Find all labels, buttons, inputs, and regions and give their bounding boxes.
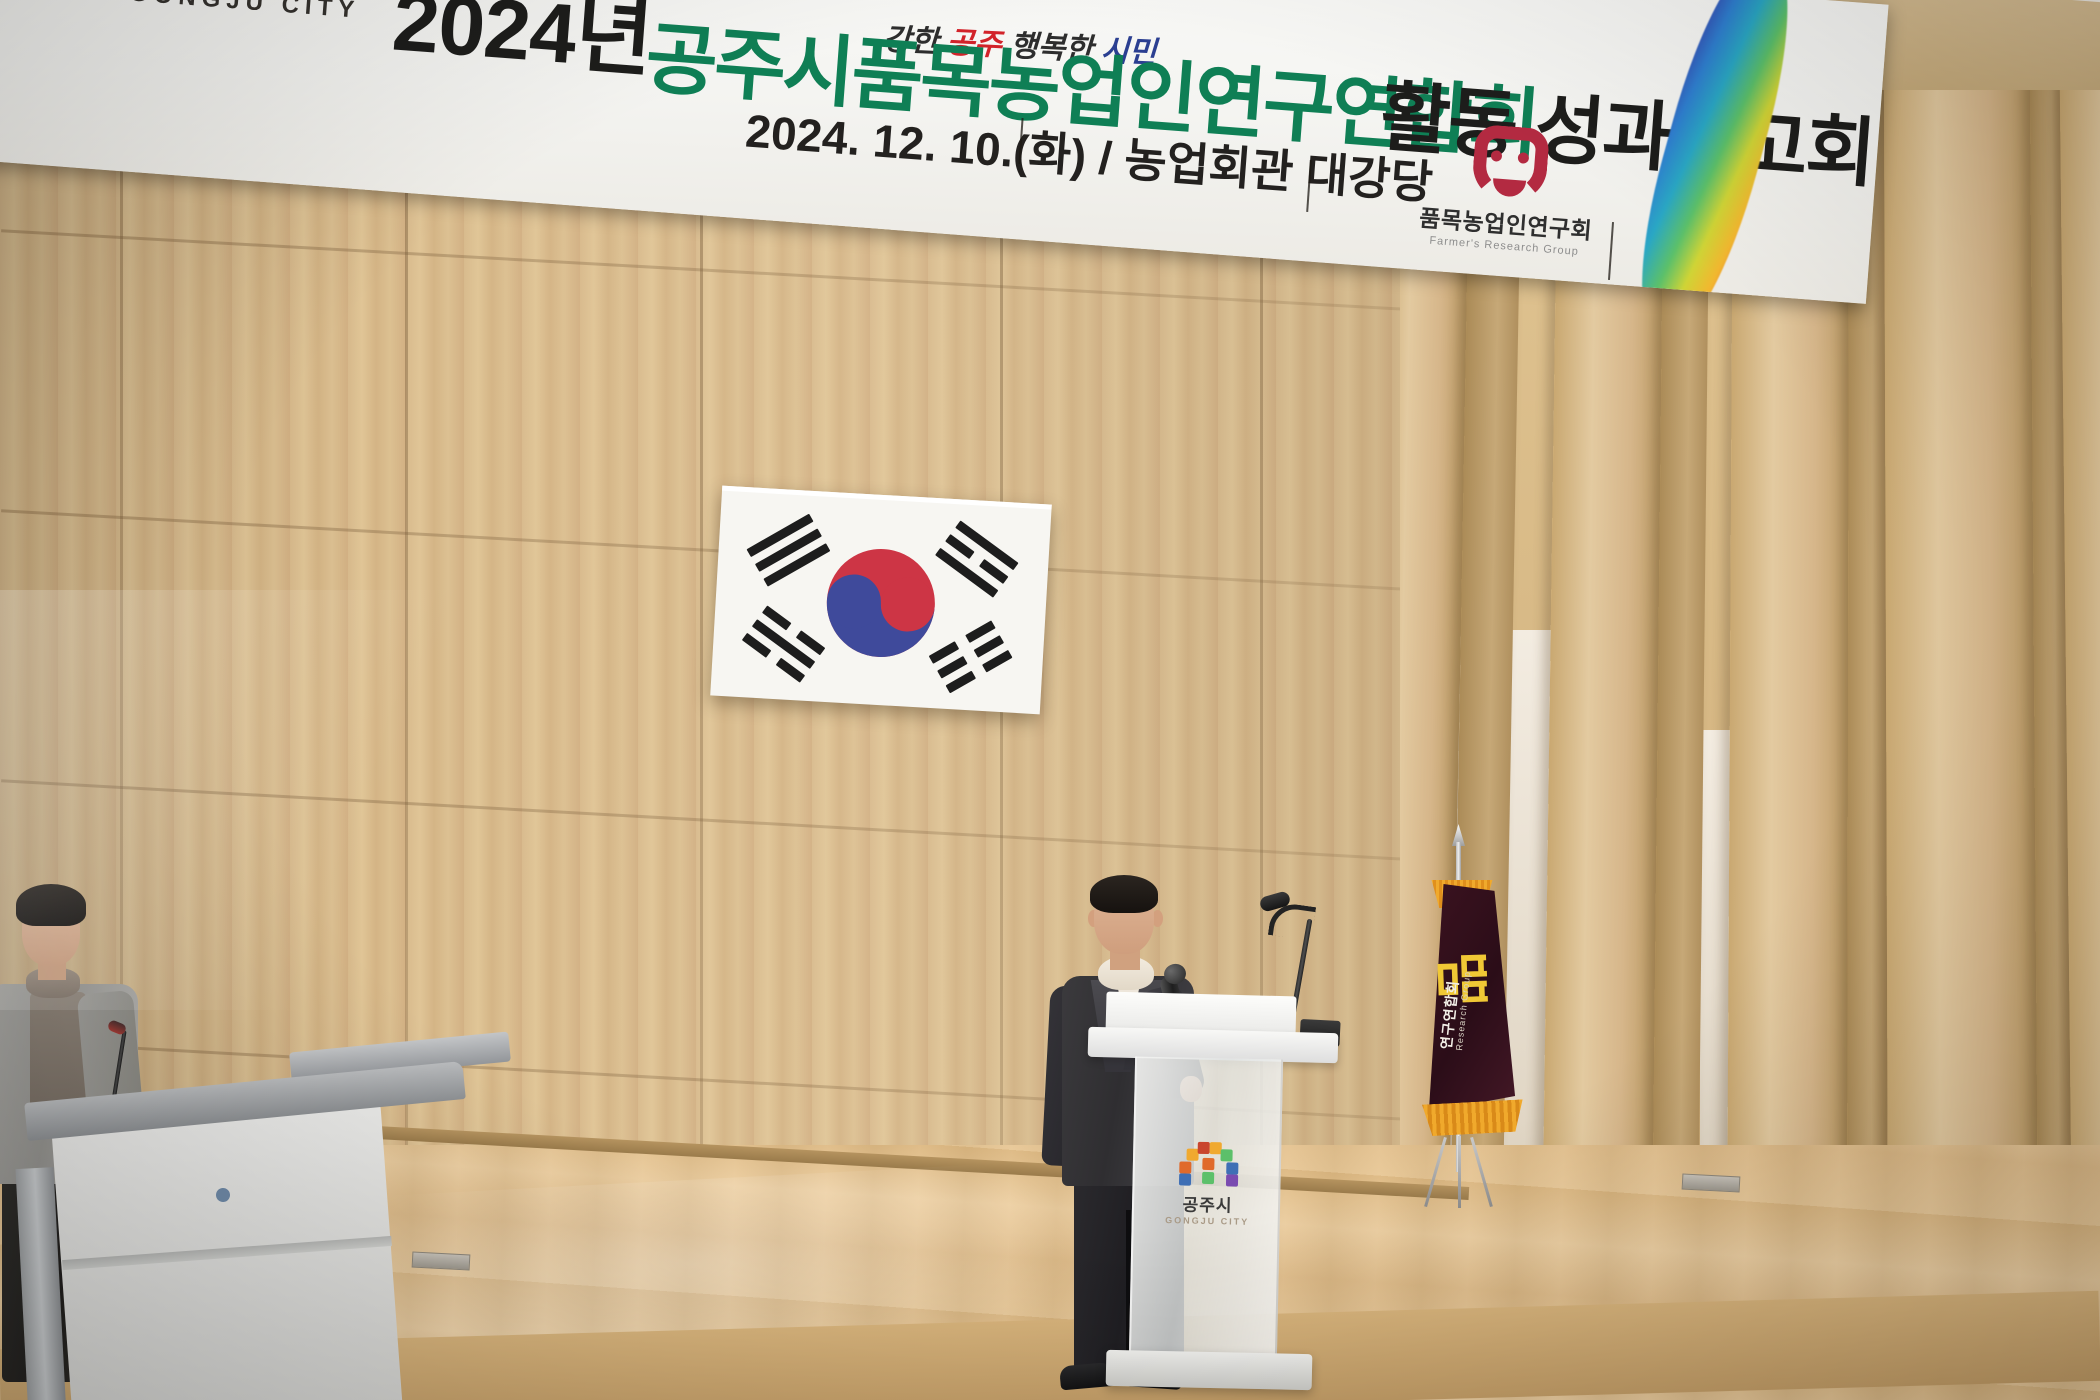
podium-base bbox=[1106, 1350, 1313, 1390]
trigram-geon bbox=[747, 514, 831, 588]
podium-logo-en: GONGJU CITY bbox=[1161, 1215, 1253, 1227]
podium-logo: 공주시 GONGJU CITY bbox=[1161, 1139, 1255, 1227]
korean-national-flag bbox=[710, 486, 1052, 715]
hair bbox=[1090, 875, 1158, 913]
banner-year: 2024년 bbox=[389, 0, 657, 94]
podium-logo-kr: 공주시 bbox=[1161, 1190, 1254, 1217]
trigram-gon bbox=[929, 620, 1013, 694]
trigram-gam bbox=[741, 605, 825, 683]
floor-outlet-plate bbox=[1682, 1173, 1741, 1192]
gongju-arch-icon bbox=[1173, 1139, 1244, 1186]
city-logo-en: GONGJU CITY bbox=[128, 0, 361, 25]
ceremonial-organization-flag: 品 연구연합회 Research Group bbox=[1372, 836, 1552, 1196]
trigram-ri bbox=[934, 520, 1018, 598]
sponsor-logo: 품목농업인연구회 Farmer's Research Group bbox=[1387, 118, 1628, 285]
flag-fringe-bottom bbox=[1415, 1099, 1529, 1137]
flag-stand-leg bbox=[1458, 1136, 1461, 1208]
taeguk-symbol bbox=[824, 545, 938, 659]
hair bbox=[16, 884, 86, 926]
farmer-research-group-mark-icon bbox=[1471, 124, 1550, 203]
av-control-lectern bbox=[0, 1060, 480, 1400]
venue-photo: 品 연구연합회 Research Group bbox=[0, 0, 2100, 1400]
acrylic-podium: 공주시 GONGJU CITY bbox=[1100, 1030, 1330, 1390]
